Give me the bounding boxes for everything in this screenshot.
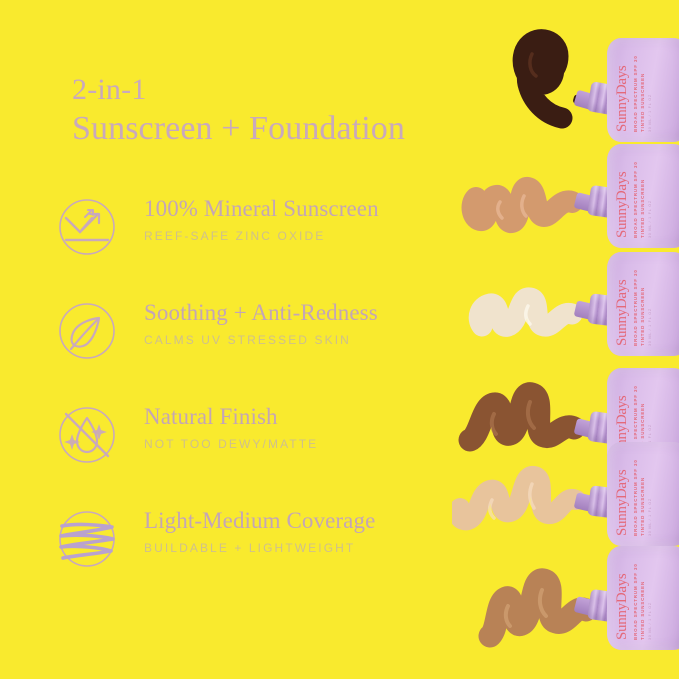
brand-name: SunnyDays (615, 574, 630, 640)
product-tube: SunnyDays BROAD SPECTRUM SPF 30 TINTED S… (607, 546, 679, 650)
headline: 2-in-1 Sunscreen + Foundation (72, 72, 492, 150)
feature-subtitle: BUILDABLE + LIGHTWEIGHT (144, 541, 474, 555)
spec-line-2: TINTED SUNSCREEN (640, 477, 647, 536)
headline-line-1: 2-in-1 (72, 72, 492, 107)
shade-swatch (460, 146, 590, 256)
shade-swatch (466, 14, 586, 134)
feature-item: Natural Finish NOT TOO DEWY/MATTE (52, 396, 472, 500)
volume-text: 30 ML / 1 FL OZ (648, 308, 652, 346)
product-unit: SunnyDays BROAD SPECTRUM SPF 30 TINTED S… (464, 542, 679, 679)
feature-subtitle: REEF-SAFE ZINC OXIDE (144, 229, 474, 243)
product-ad-image: 2-in-1 Sunscreen + Foundation 100% Miner… (0, 0, 679, 679)
feature-text: Natural Finish NOT TOO DEWY/MATTE (144, 404, 474, 452)
spec-line-2: TINTED SUNSCREEN (640, 73, 647, 132)
product-unit: SunnyDays BROAD SPECTRUM SPF 30 TINTED S… (464, 22, 679, 162)
product-column: SunnyDays BROAD SPECTRUM SPF 30 TINTED S… (464, 0, 679, 679)
brand-name: SunnyDays (615, 66, 630, 132)
volume-text: 30 ML / 1 FL OZ (648, 498, 652, 536)
spec-line-1: BROAD SPECTRUM SPF 30 (633, 55, 640, 132)
feature-subtitle: CALMS UV STRESSED SKIN (144, 333, 474, 347)
spec-line-1: BROAD SPECTRUM SPF 30 (633, 459, 640, 536)
tube-label: SunnyDays BROAD SPECTRUM SPF 30 TINTED S… (615, 260, 679, 346)
volume-text: 30 ML / 1 FL OZ (648, 94, 652, 132)
feature-item: 100% Mineral Sunscreen REEF-SAFE ZINC OX… (52, 188, 472, 292)
feature-title: Natural Finish (144, 404, 474, 430)
feature-text: Light-Medium Coverage BUILDABLE + LIGHTW… (144, 508, 474, 556)
feature-text: 100% Mineral Sunscreen REEF-SAFE ZINC OX… (144, 196, 474, 244)
feature-list: 100% Mineral Sunscreen REEF-SAFE ZINC OX… (52, 188, 472, 604)
volume-text: 30 ML / 1 FL OZ (648, 200, 652, 238)
brand-name: SunnyDays (615, 470, 630, 536)
spec-line-1: BROAD SPECTRUM SPF 30 (633, 161, 640, 238)
spec-line-2: TINTED SUNSCREEN (640, 179, 647, 238)
no-dewy-droplet-icon (52, 400, 122, 470)
spec-line-1: BROAD SPECTRUM SPF 30 (633, 563, 640, 640)
feature-subtitle: NOT TOO DEWY/MATTE (144, 437, 474, 451)
headline-line-2: Sunscreen + Foundation (72, 109, 492, 149)
tube-label: SunnyDays BROAD SPECTRUM SPF 30 TINTED S… (615, 450, 679, 536)
volume-text: 30 ML / 1 FL OZ (648, 602, 652, 640)
tube-label: SunnyDays BROAD SPECTRUM SPF 30 TINTED S… (615, 152, 679, 238)
feature-text: Soothing + Anti-Redness CALMS UV STRESSE… (144, 300, 474, 348)
product-tube: SunnyDays BROAD SPECTRUM SPF 30 TINTED S… (607, 252, 679, 356)
coverage-swatch-icon (52, 504, 122, 574)
tube-label: SunnyDays BROAD SPECTRUM SPF 30 TINTED S… (615, 46, 679, 132)
product-tube: SunnyDays BROAD SPECTRUM SPF 30 TINTED S… (607, 442, 679, 546)
feature-item: Light-Medium Coverage BUILDABLE + LIGHTW… (52, 500, 472, 604)
brand-name: SunnyDays (615, 172, 630, 238)
product-tube: SunnyDays BROAD SPECTRUM SPF 30 TINTED S… (607, 144, 679, 248)
tube-label: SunnyDays BROAD SPECTRUM SPF 30 TINTED S… (615, 554, 679, 640)
feature-title: 100% Mineral Sunscreen (144, 196, 474, 222)
spec-line-1: BROAD SPECTRUM SPF 30 (633, 269, 640, 346)
feature-title: Light-Medium Coverage (144, 508, 474, 534)
feature-title: Soothing + Anti-Redness (144, 300, 474, 326)
spec-line-2: TINTED SUNSCREEN (640, 581, 647, 640)
leaf-icon (52, 296, 122, 366)
uv-reflect-icon (52, 192, 122, 262)
brand-name: SunnyDays (615, 280, 630, 346)
spec-line-2: TINTED SUNSCREEN (640, 287, 647, 346)
feature-item: Soothing + Anti-Redness CALMS UV STRESSE… (52, 292, 472, 396)
product-tube: SunnyDays BROAD SPECTRUM SPF 30 TINTED S… (607, 38, 679, 142)
